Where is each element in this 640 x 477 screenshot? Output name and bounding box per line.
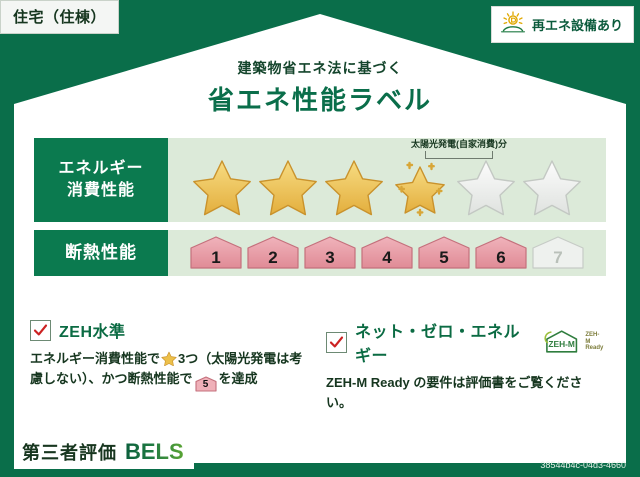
insulation-level-3: 3 (303, 236, 357, 270)
label-subtitle: 建築物省エネ法に基づく (0, 58, 640, 78)
star-rating (191, 157, 583, 217)
insulation-levels: 1 2 3 4 5 (189, 236, 585, 270)
solar-sun-icon (500, 11, 526, 38)
renewable-badge-label: 再エネ設備あり (532, 15, 623, 34)
insulation-level-3-value: 3 (325, 248, 334, 270)
insulation-level-1-value: 1 (211, 248, 220, 270)
star-empty-5 (455, 157, 517, 217)
criterion-zeh-body: エネルギー消費性能で3つ（太陽光発電は考慮しない）、かつ断熱性能で5を達成 (30, 349, 308, 392)
insulation-performance-label-panel: 断熱性能 (34, 230, 168, 276)
third-party-label: 第三者評価 (22, 439, 117, 465)
insulation-level-gauge: 1 2 3 4 5 (168, 230, 606, 276)
criterion-zeh-title: ZEH水準 (59, 318, 126, 342)
insulation-level-4: 4 (360, 236, 414, 270)
criteria-section: ZEH水準 エネルギー消費性能で3つ（太陽光発電は考慮しない）、かつ断熱性能で5… (30, 318, 610, 413)
insulation-level-5-value: 5 (439, 248, 448, 270)
solar-annotation-bracket (425, 151, 493, 159)
label-footer: 第三者評価 BELS ウエストセドナ 住棟 評価日 2024年8月30日 385… (0, 429, 640, 477)
evaluation-date: 評価日 2024年8月30日 (494, 436, 626, 455)
bels-wordmark: BELS (125, 439, 184, 465)
building-name: ウエストセドナ 住棟 (218, 444, 353, 463)
criterion-zeh-text-1: エネルギー消費性能で (30, 351, 160, 366)
evaluation-id: 38544b4c-04d3-4660 (540, 460, 626, 470)
criterion-nze-title: ネット・ゼロ・エネルギー (355, 318, 529, 366)
checkbox-zeh[interactable] (30, 320, 51, 341)
criterion-nze-header: ネット・ゼロ・エネルギー ZEH-M ZEH-M Ready (326, 318, 604, 366)
criterion-zeh: ZEH水準 エネルギー消費性能で3つ（太陽光発電は考慮しない）、かつ断熱性能で5… (30, 318, 308, 413)
gold-star-icon (161, 351, 177, 367)
criterion-zeh-text-3: を達成 (219, 371, 258, 386)
label-title: 省エネ性能ラベル (0, 80, 640, 117)
solar-annotation-label: 太陽光発電(自家消費)分 (389, 137, 529, 150)
criterion-nze-body: ZEH-M Ready の要件は評価書をご覧ください。 (326, 373, 604, 413)
zeh-m-sub-line2: Ready (585, 345, 603, 351)
energy-performance-label: 住宅（住棟） 再エネ設備あり 建築物省エネ法に基づ (0, 0, 640, 477)
insulation-level-badge-value: 5 (195, 376, 217, 394)
solar-annotation: 太陽光発電(自家消費)分 (389, 137, 529, 159)
star-filled-solar-4 (389, 157, 451, 217)
housing-type-tag: 住宅（住棟） (0, 0, 119, 34)
criterion-zeh-header: ZEH水準 (30, 318, 308, 342)
insulation-label-line1: 断熱性能 (65, 242, 137, 265)
insulation-level-2-value: 2 (268, 248, 277, 270)
energy-star-gauge: 太陽光発電(自家消費)分 (168, 138, 606, 222)
insulation-level-1: 1 (189, 236, 243, 270)
insulation-level-6: 6 (474, 236, 528, 270)
star-filled-3 (323, 157, 385, 217)
insulation-level-5: 5 (417, 236, 471, 270)
star-filled-2 (257, 157, 319, 217)
insulation-level-6-value: 6 (496, 248, 505, 270)
zeh-m-sub-line1: ZEH-M (585, 332, 599, 345)
energy-label-line1: エネルギー (58, 158, 143, 180)
energy-performance-label-panel: エネルギー 消費性能 (34, 138, 168, 222)
insulation-level-badge-icon: 5 (195, 376, 217, 392)
bels-logo: 第三者評価 BELS (14, 436, 194, 469)
insulation-performance-row: 断熱性能 1 2 3 (34, 230, 606, 276)
insulation-level-4-value: 4 (382, 248, 391, 270)
insulation-level-7-value: 7 (553, 248, 562, 270)
star-empty-6 (521, 157, 583, 217)
rating-rows: エネルギー 消費性能 太陽光発電(自家消費)分 (34, 138, 606, 284)
star-filled-1 (191, 157, 253, 217)
energy-performance-row: エネルギー 消費性能 太陽光発電(自家消費)分 (34, 138, 606, 222)
svg-text:ZEH-M: ZEH-M (548, 339, 575, 349)
checkbox-net-zero-energy[interactable] (326, 332, 347, 353)
insulation-level-7: 7 (531, 236, 585, 270)
renewable-equipment-badge: 再エネ設備あり (491, 6, 634, 43)
insulation-level-2: 2 (246, 236, 300, 270)
zeh-m-logo-icon: ZEH-M ZEH-M Ready (541, 328, 604, 356)
zeh-m-logo-sublabel: ZEH-M Ready (585, 332, 604, 353)
energy-label-line2: 消費性能 (67, 180, 135, 202)
criterion-net-zero-energy: ネット・ゼロ・エネルギー ZEH-M ZEH-M Ready ZEH-M Rea… (326, 318, 604, 413)
